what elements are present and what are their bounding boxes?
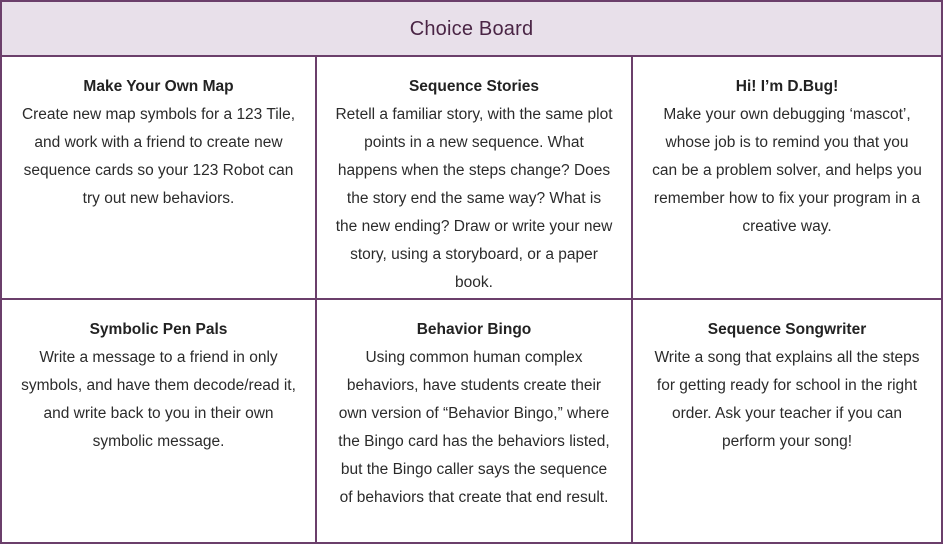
choice-cell-behavior-bingo[interactable]: Behavior Bingo Using common human comple…: [317, 300, 633, 543]
cell-body: Write a message to a friend in only symb…: [20, 344, 297, 456]
choice-cell-d-bug[interactable]: Hi! I’m D.Bug! Make your own debugging ‘…: [633, 57, 941, 298]
cell-body: Using common human complex behaviors, ha…: [335, 344, 613, 512]
choice-cell-symbolic-pen-pals[interactable]: Symbolic Pen Pals Write a message to a f…: [2, 300, 317, 543]
cell-title: Hi! I’m D.Bug!: [651, 73, 923, 101]
page-title: Choice Board: [410, 19, 534, 39]
choice-cell-sequence-songwriter[interactable]: Sequence Songwriter Write a song that ex…: [633, 300, 941, 543]
table-row: Make Your Own Map Create new map symbols…: [2, 57, 941, 300]
choice-cell-make-your-own-map[interactable]: Make Your Own Map Create new map symbols…: [2, 57, 317, 298]
table-row: Symbolic Pen Pals Write a message to a f…: [2, 300, 941, 543]
cell-body: Write a song that explains all the steps…: [651, 344, 923, 456]
board-body: Make Your Own Map Create new map symbols…: [2, 57, 941, 542]
cell-body: Retell a familiar story, with the same p…: [335, 101, 613, 297]
choice-cell-sequence-stories[interactable]: Sequence Stories Retell a familiar story…: [317, 57, 633, 298]
cell-title: Sequence Stories: [335, 73, 613, 101]
board-header: Choice Board: [2, 2, 941, 57]
cell-title: Sequence Songwriter: [651, 316, 923, 344]
cell-title: Make Your Own Map: [20, 73, 297, 101]
cell-title: Symbolic Pen Pals: [20, 316, 297, 344]
cell-title: Behavior Bingo: [335, 316, 613, 344]
cell-body: Create new map symbols for a 123 Tile, a…: [20, 101, 297, 213]
choice-board-table: Choice Board Make Your Own Map Create ne…: [0, 0, 943, 544]
cell-body: Make your own debugging ‘mascot’, whose …: [651, 101, 923, 241]
